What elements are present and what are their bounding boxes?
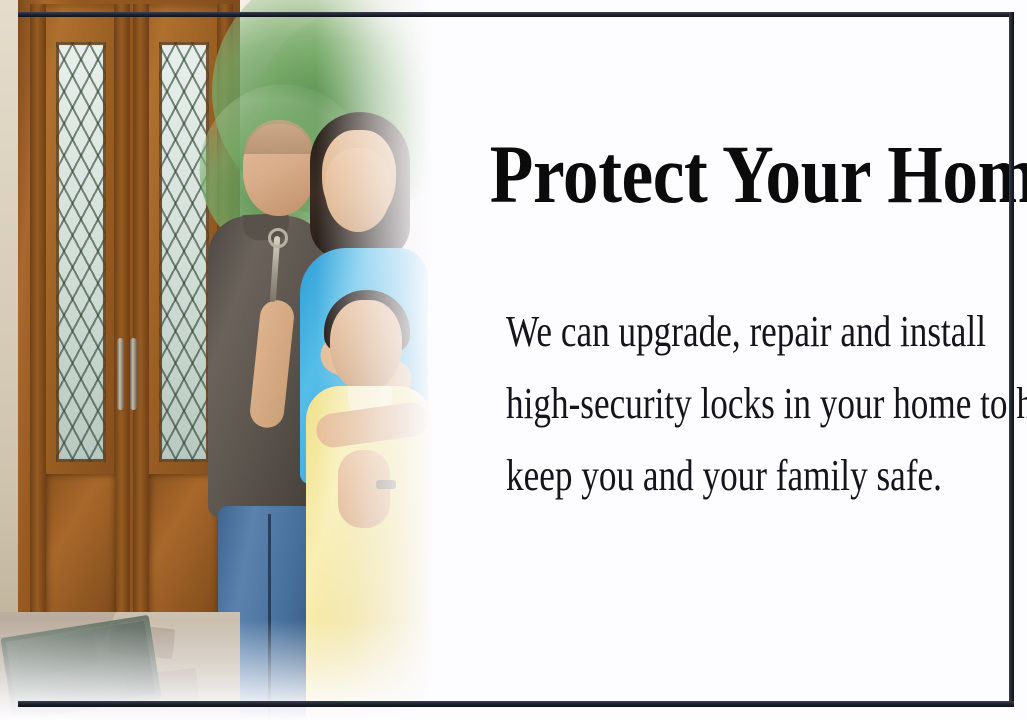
body-line-3: keep you and your family safe. — [506, 440, 938, 512]
photo-bottom-fade — [0, 0, 452, 720]
frame-border-bottom — [18, 701, 1014, 707]
ad-body-copy: We can upgrade, repair and install high-… — [506, 296, 938, 512]
page-title: Protect Your Home! — [490, 132, 954, 216]
family-at-front-door-photo — [0, 0, 452, 720]
frame-border-top — [18, 12, 1014, 17]
frame-border-right — [1009, 12, 1014, 707]
advertisement-banner: Protect Your Home! We can upgrade, repai… — [0, 0, 1027, 720]
body-line-2: high-security locks in your home to help — [506, 368, 938, 440]
body-line-1: We can upgrade, repair and install — [506, 296, 938, 368]
ad-copy-column: Protect Your Home! We can upgrade, repai… — [452, 0, 1012, 720]
